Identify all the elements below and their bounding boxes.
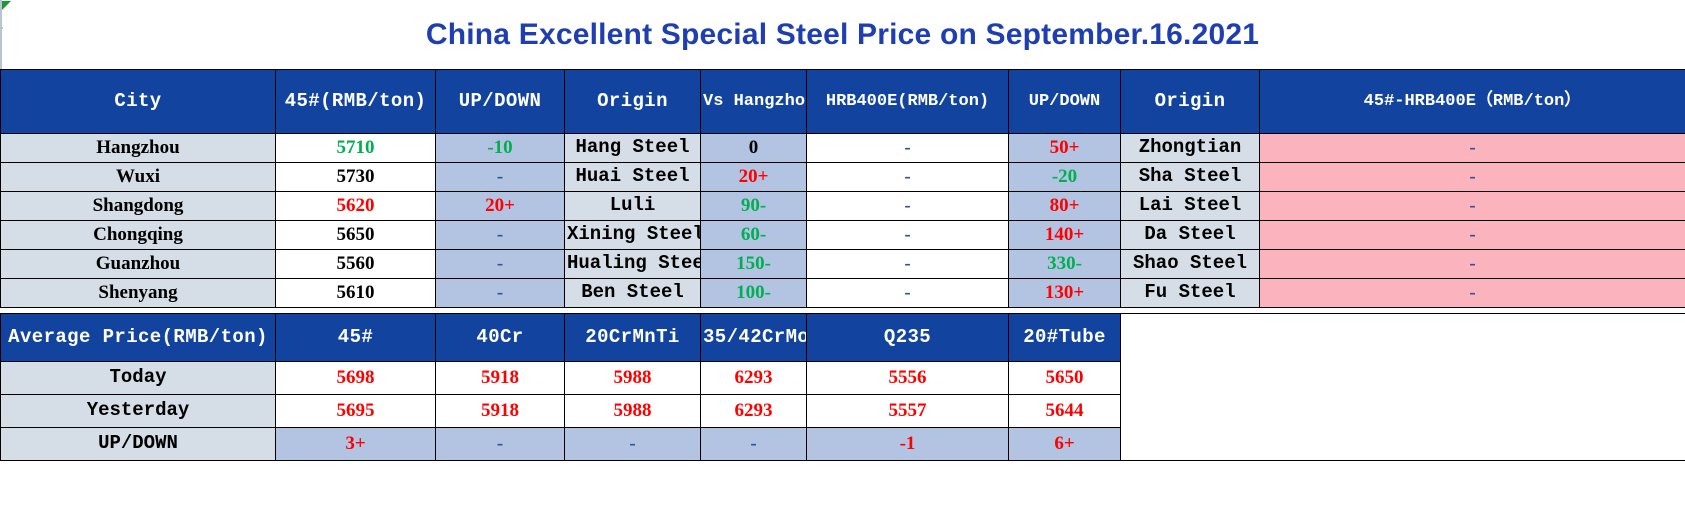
cell-vs_hangzhou: 60- xyxy=(701,221,807,250)
cell-vs_hangzhou: 100- xyxy=(701,279,807,308)
cell-updown_hrb: -20 xyxy=(1009,163,1121,192)
average-cell: 5918 xyxy=(436,362,565,395)
cell-origin_hrb: Da Steel xyxy=(1121,221,1260,250)
cell-price45: 5620 xyxy=(276,192,436,221)
cell-city: Shangdong xyxy=(1,192,276,221)
cell-spread: - xyxy=(1260,163,1685,192)
table-row: Wuxi5730-Huai Steel20+--20Sha Steel- xyxy=(1,163,1685,192)
cell-hrb400e: - xyxy=(807,221,1009,250)
col-header-spread: 45#-HRB400E（RMB/ton） xyxy=(1260,70,1685,134)
title-bar: China Excellent Special Steel Price on S… xyxy=(0,0,1685,69)
cell-updown45: 20+ xyxy=(436,192,565,221)
average-cell: 5918 xyxy=(436,395,565,428)
cell-origin_hrb: Fu Steel xyxy=(1121,279,1260,308)
cell-origin45: Xining Steel xyxy=(565,221,701,250)
cell-city: Guanzhou xyxy=(1,250,276,279)
average-cell: -1 xyxy=(807,428,1009,461)
grade-header: 20#Tube xyxy=(1009,314,1121,362)
cell-hrb400e: - xyxy=(807,279,1009,308)
grade-header: 45# xyxy=(276,314,436,362)
table-row: Chongqing5650-Xining Steel60--140+Da Ste… xyxy=(1,221,1685,250)
cell-price45: 5560 xyxy=(276,250,436,279)
grade-header: 40Cr xyxy=(436,314,565,362)
cell-updown_hrb: 50+ xyxy=(1009,134,1121,163)
average-cell: 5698 xyxy=(276,362,436,395)
cell-hrb400e: - xyxy=(807,163,1009,192)
average-cell: - xyxy=(701,428,807,461)
cell-origin_hrb: Lai Steel xyxy=(1121,192,1260,221)
col-header-hrb400e: HRB400E(RMB/ton) xyxy=(807,70,1009,134)
col-header-vs-hangzhou: Vs Hangzhou xyxy=(701,70,807,134)
average-cell: 5650 xyxy=(1009,362,1121,395)
average-cell: 5695 xyxy=(276,395,436,428)
col-header-updown-45: UP/DOWN xyxy=(436,70,565,134)
cell-updown45: - xyxy=(436,279,565,308)
average-row-label: Yesterday xyxy=(1,395,276,428)
grade-header: 20CrMnTi xyxy=(565,314,701,362)
average-cell: - xyxy=(436,428,565,461)
average-corner-label: Average Price(RMB/ton) xyxy=(1,314,276,362)
average-row-label: Today xyxy=(1,362,276,395)
empty-merged-area xyxy=(1121,314,1685,461)
average-header-row: Average Price(RMB/ton)45#40Cr20CrMnTi35/… xyxy=(1,314,1685,362)
table-row: Shangdong562020+Luli90--80+Lai Steel- xyxy=(1,192,1685,221)
cell-origin45: Ben Steel xyxy=(565,279,701,308)
cell-spread: - xyxy=(1260,250,1685,279)
cell-hrb400e: - xyxy=(807,134,1009,163)
col-header-updown-hrb: UP/DOWN xyxy=(1009,70,1121,134)
average-cell: 5557 xyxy=(807,395,1009,428)
average-price-table: Average Price(RMB/ton)45#40Cr20CrMnTi35/… xyxy=(0,313,1685,461)
cell-price45: 5610 xyxy=(276,279,436,308)
cell-origin45: Huai Steel xyxy=(565,163,701,192)
spreadsheet-canvas: China Excellent Special Steel Price on S… xyxy=(0,0,1685,512)
cell-price45: 5710 xyxy=(276,134,436,163)
average-cell: 6293 xyxy=(701,362,807,395)
cell-updown_hrb: 130+ xyxy=(1009,279,1121,308)
cell-updown45: - xyxy=(436,250,565,279)
col-header-price45: 45#(RMB/ton) xyxy=(276,70,436,134)
cell-updown45: - xyxy=(436,221,565,250)
cell-updown_hrb: 140+ xyxy=(1009,221,1121,250)
col-header-origin-hrb: Origin xyxy=(1121,70,1260,134)
cell-price45: 5650 xyxy=(276,221,436,250)
cell-spread: - xyxy=(1260,192,1685,221)
cell-vs_hangzhou: 90- xyxy=(701,192,807,221)
cell-vs_hangzhou: 0 xyxy=(701,134,807,163)
average-cell: - xyxy=(565,428,701,461)
average-row-label: UP/DOWN xyxy=(1,428,276,461)
average-cell: 5556 xyxy=(807,362,1009,395)
cell-updown45: -10 xyxy=(436,134,565,163)
grade-header: 35/42CrMo xyxy=(701,314,807,362)
cell-origin45: Luli xyxy=(565,192,701,221)
cell-city: Hangzhou xyxy=(1,134,276,163)
cell-city: Chongqing xyxy=(1,221,276,250)
table-row: Hangzhou5710-10Hang Steel0-50+Zhongtian- xyxy=(1,134,1685,163)
average-cell: 3+ xyxy=(276,428,436,461)
table-row: Shenyang5610-Ben Steel100--130+Fu Steel- xyxy=(1,279,1685,308)
col-header-city: City xyxy=(1,70,276,134)
average-cell: 5644 xyxy=(1009,395,1121,428)
city-price-table: City 45#(RMB/ton) UP/DOWN Origin Vs Hang… xyxy=(0,69,1685,308)
cell-spread: - xyxy=(1260,134,1685,163)
page-title: China Excellent Special Steel Price on S… xyxy=(426,18,1259,52)
cell-spread: - xyxy=(1260,279,1685,308)
cell-origin_hrb: Sha Steel xyxy=(1121,163,1260,192)
grade-header: Q235 xyxy=(807,314,1009,362)
cell-origin_hrb: Shao Steel xyxy=(1121,250,1260,279)
cell-city: Shenyang xyxy=(1,279,276,308)
cell-updown_hrb: 330- xyxy=(1009,250,1121,279)
cell-origin_hrb: Zhongtian xyxy=(1121,134,1260,163)
cell-updown_hrb: 80+ xyxy=(1009,192,1121,221)
average-cell: 6+ xyxy=(1009,428,1121,461)
average-cell: 5988 xyxy=(565,362,701,395)
cell-city: Wuxi xyxy=(1,163,276,192)
cell-hrb400e: - xyxy=(807,250,1009,279)
cell-updown45: - xyxy=(436,163,565,192)
table-header-row: City 45#(RMB/ton) UP/DOWN Origin Vs Hang… xyxy=(1,70,1685,134)
cell-hrb400e: - xyxy=(807,192,1009,221)
average-cell: 5988 xyxy=(565,395,701,428)
cell-origin45: Hang Steel xyxy=(565,134,701,163)
cell-vs_hangzhou: 20+ xyxy=(701,163,807,192)
col-header-origin-45: Origin xyxy=(565,70,701,134)
average-cell: 6293 xyxy=(701,395,807,428)
cell-price45: 5730 xyxy=(276,163,436,192)
cell-spread: - xyxy=(1260,221,1685,250)
cell-origin45: Hualing Steel xyxy=(565,250,701,279)
cell-vs_hangzhou: 150- xyxy=(701,250,807,279)
table-row: Guanzhou5560-Hualing Steel150--330-Shao … xyxy=(1,250,1685,279)
